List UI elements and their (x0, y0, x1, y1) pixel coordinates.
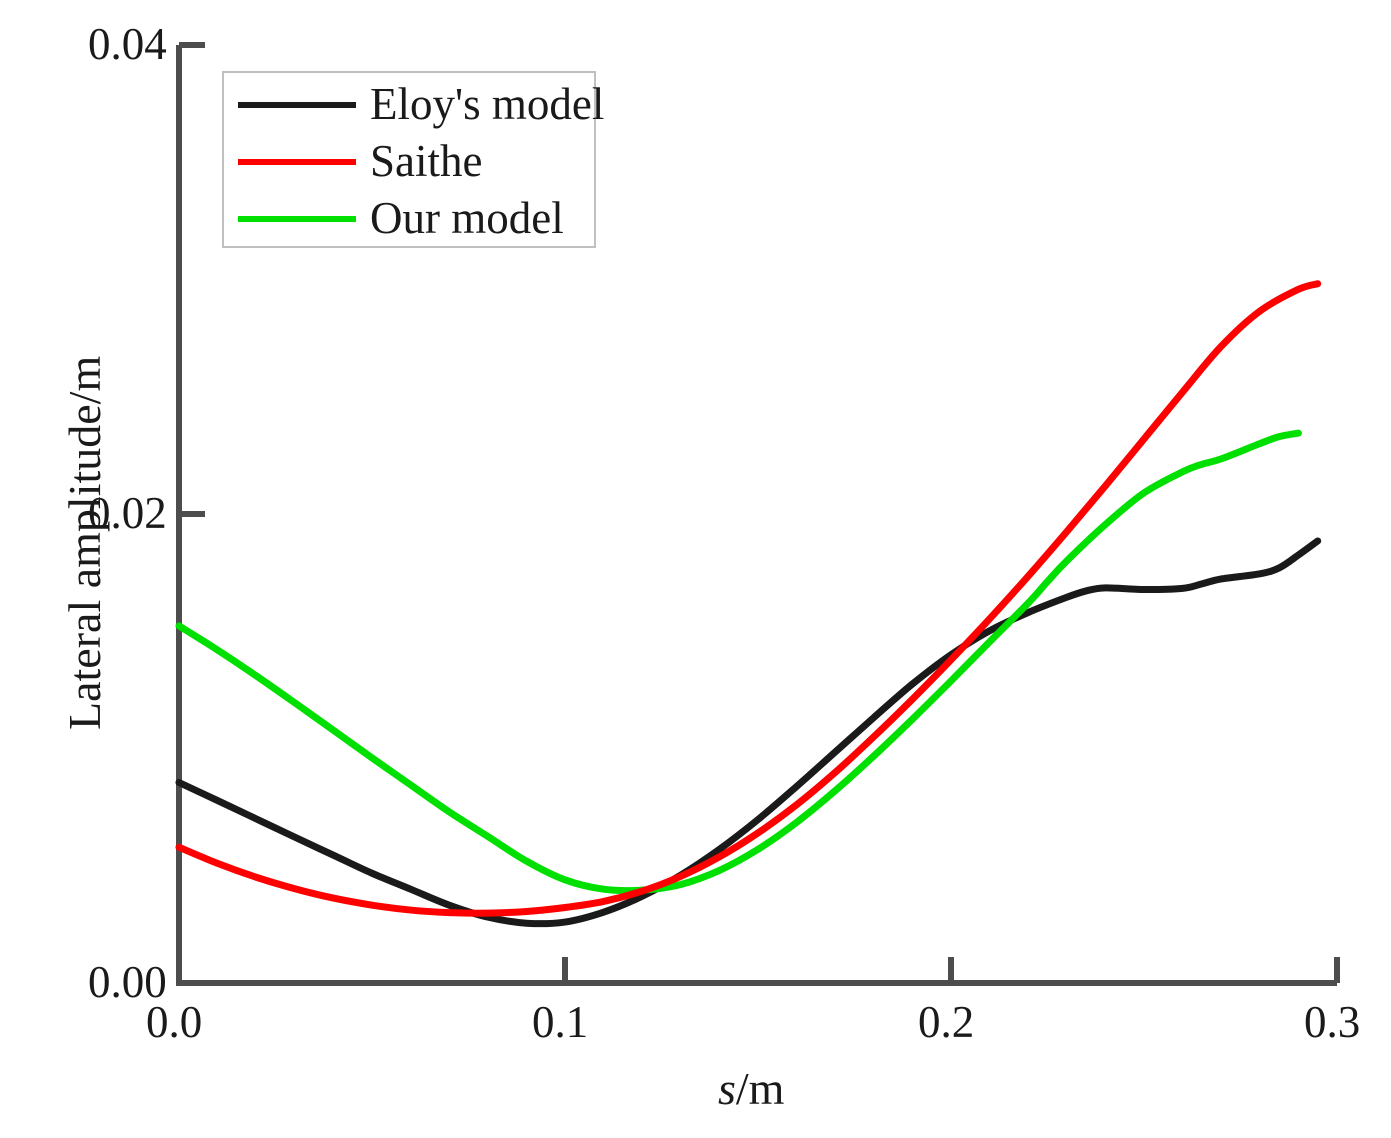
x-tick-label-0.0: 0.0 (146, 1000, 202, 1045)
chart-figure: 0.04 0.02 0.00 0.0 0.1 0.2 0.3 Lateral a… (0, 0, 1391, 1138)
legend-swatch-eloys-model (238, 102, 356, 108)
legend-swatch-our-model (238, 216, 356, 222)
legend-label-eloys-model: Eloy's model (370, 82, 604, 127)
x-axis-title-unit: /m (736, 1063, 785, 1114)
series-line-our-model (179, 433, 1298, 891)
y-tick-marks (179, 45, 205, 983)
x-tick-label-0.2: 0.2 (918, 1000, 974, 1045)
legend-label-our-model: Our model (370, 196, 564, 241)
x-tick-label-0.3: 0.3 (1304, 1000, 1360, 1045)
legend-swatch-saithe (238, 159, 356, 165)
legend: Eloy's model Saithe Our model (222, 71, 596, 248)
x-tick-marks (179, 957, 1337, 983)
legend-item-our-model: Our model (224, 189, 594, 248)
legend-item-saithe: Saithe (224, 132, 594, 191)
data-series-group (179, 284, 1318, 924)
x-axis-title-symbol: s (718, 1063, 736, 1114)
y-tick-label-0.04: 0.04 (88, 22, 167, 67)
y-axis-title: Lateral amplitude/m (62, 356, 108, 730)
legend-label-saithe: Saithe (370, 139, 482, 184)
x-axis-title: s/m (718, 1066, 784, 1112)
x-tick-label-0.1: 0.1 (532, 1000, 588, 1045)
legend-item-eloys-model: Eloy's model (224, 75, 594, 134)
series-line-eloy-s-model (179, 541, 1318, 924)
plot-area (0, 0, 1391, 1138)
series-line-saithe (179, 284, 1318, 913)
